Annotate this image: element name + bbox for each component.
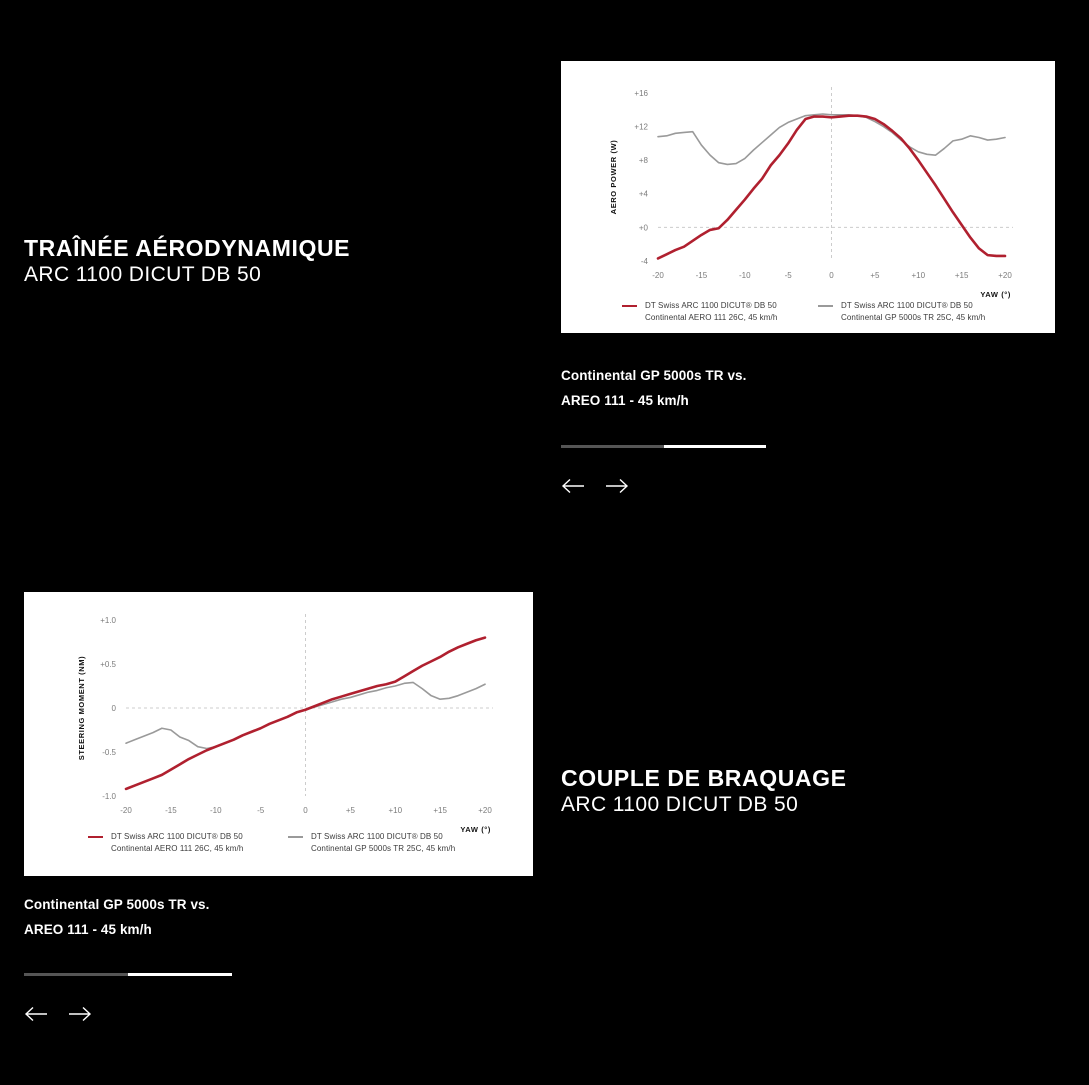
- svg-text:+12: +12: [634, 122, 648, 131]
- svg-text:+4: +4: [639, 190, 649, 199]
- svg-text:+10: +10: [388, 806, 402, 815]
- legend-label-grey-line1: DT Swiss ARC 1100 DICUT® DB 50: [311, 832, 443, 841]
- page-title-aero-drag: TRAÎNÉE AÉRODYNAMIQUE: [24, 234, 350, 262]
- carousel-progress-fill-aero: [664, 445, 767, 448]
- legend-label-red: DT Swiss ARC 1100 DICUT® DB 50 Continent…: [111, 831, 243, 854]
- legend-label-grey: DT Swiss ARC 1100 DICUT® DB 50 Continent…: [841, 300, 985, 323]
- svg-text:-20: -20: [652, 271, 664, 280]
- chart-caption-aero-drag: Continental GP 5000s TR vs. AREO 111 - 4…: [561, 364, 747, 414]
- legend-item-grey: DT Swiss ARC 1100 DICUT® DB 50 Continent…: [818, 300, 985, 323]
- svg-text:+10: +10: [911, 271, 925, 280]
- page-subtitle-steering-torque: ARC 1100 DICUT DB 50: [561, 792, 847, 818]
- legend-line-swatch-red-icon: [88, 836, 103, 838]
- caption-line-1: Continental GP 5000s TR vs.: [561, 364, 747, 389]
- svg-text:+15: +15: [433, 806, 447, 815]
- svg-text:+15: +15: [955, 271, 969, 280]
- chart-legend-steering-moment: DT Swiss ARC 1100 DICUT® DB 50 Continent…: [88, 831, 488, 854]
- caption-line-2: AREO 111 - 45 km/h: [561, 389, 747, 414]
- arrow-right-icon[interactable]: [66, 1003, 92, 1025]
- svg-text:+20: +20: [998, 271, 1012, 280]
- section-heading-aero-drag: TRAÎNÉE AÉRODYNAMIQUE ARC 1100 DICUT DB …: [24, 234, 350, 288]
- legend-label-grey-line2: Continental GP 5000s TR 25C, 45 km/h: [841, 313, 985, 322]
- legend-line-swatch-grey-icon: [818, 305, 833, 307]
- svg-text:+16: +16: [634, 89, 648, 98]
- svg-text:-10: -10: [739, 271, 751, 280]
- svg-text:+0.5: +0.5: [100, 660, 116, 669]
- page-subtitle-aero-drag: ARC 1100 DICUT DB 50: [24, 262, 350, 288]
- carousel-progress-fill-steering: [128, 973, 232, 976]
- arrow-left-icon[interactable]: [24, 1003, 50, 1025]
- caption-line-2: AREO 111 - 45 km/h: [24, 918, 210, 943]
- carousel-nav-aero: [561, 475, 629, 497]
- legend-item-red: DT Swiss ARC 1100 DICUT® DB 50 Continent…: [622, 300, 818, 323]
- chart-legend-aero-power: DT Swiss ARC 1100 DICUT® DB 50 Continent…: [622, 300, 1022, 323]
- legend-label-red-line1: DT Swiss ARC 1100 DICUT® DB 50: [645, 301, 777, 310]
- caption-line-1: Continental GP 5000s TR vs.: [24, 893, 210, 918]
- aero-power-chart: -4+0+4+8+12+16-20-15-10-50+5+10+15+20AER…: [561, 61, 1055, 333]
- svg-text:+5: +5: [870, 271, 880, 280]
- legend-line-swatch-red-icon: [622, 305, 637, 307]
- legend-item-grey: DT Swiss ARC 1100 DICUT® DB 50 Continent…: [288, 831, 455, 854]
- legend-label-red: DT Swiss ARC 1100 DICUT® DB 50 Continent…: [645, 300, 777, 323]
- svg-text:-20: -20: [120, 806, 132, 815]
- legend-label-red-line2: Continental AERO 111 26C, 45 km/h: [111, 844, 243, 853]
- legend-label-red-line2: Continental AERO 111 26C, 45 km/h: [645, 313, 777, 322]
- svg-text:0: 0: [829, 271, 834, 280]
- svg-text:0: 0: [303, 806, 308, 815]
- svg-text:-10: -10: [210, 806, 222, 815]
- svg-text:+20: +20: [478, 806, 492, 815]
- legend-item-red: DT Swiss ARC 1100 DICUT® DB 50 Continent…: [88, 831, 288, 854]
- page-title-steering-torque: COUPLE DE BRAQUAGE: [561, 764, 847, 792]
- svg-text:AERO POWER (W): AERO POWER (W): [609, 140, 618, 215]
- legend-line-swatch-grey-icon: [288, 836, 303, 838]
- arrow-right-icon[interactable]: [603, 475, 629, 497]
- carousel-progress-track-aero[interactable]: [561, 445, 766, 448]
- chart-panel-aero-power: -4+0+4+8+12+16-20-15-10-50+5+10+15+20AER…: [561, 61, 1055, 333]
- svg-text:-5: -5: [785, 271, 793, 280]
- svg-text:-15: -15: [165, 806, 177, 815]
- legend-label-grey: DT Swiss ARC 1100 DICUT® DB 50 Continent…: [311, 831, 455, 854]
- chart-caption-steering-torque: Continental GP 5000s TR vs. AREO 111 - 4…: [24, 893, 210, 943]
- arrow-left-icon[interactable]: [561, 475, 587, 497]
- legend-label-red-line1: DT Swiss ARC 1100 DICUT® DB 50: [111, 832, 243, 841]
- svg-text:YAW (°): YAW (°): [980, 290, 1011, 299]
- carousel-progress-track-steering[interactable]: [24, 973, 232, 976]
- svg-text:+5: +5: [346, 806, 356, 815]
- svg-text:-15: -15: [696, 271, 708, 280]
- svg-text:+0: +0: [639, 223, 649, 232]
- legend-label-grey-line2: Continental GP 5000s TR 25C, 45 km/h: [311, 844, 455, 853]
- svg-text:-4: -4: [641, 257, 649, 266]
- section-heading-steering-torque: COUPLE DE BRAQUAGE ARC 1100 DICUT DB 50: [561, 764, 847, 818]
- legend-label-grey-line1: DT Swiss ARC 1100 DICUT® DB 50: [841, 301, 973, 310]
- svg-text:-0.5: -0.5: [102, 748, 116, 757]
- svg-text:STEERING MOMENT (NM): STEERING MOMENT (NM): [77, 656, 86, 761]
- carousel-nav-steering: [24, 1003, 92, 1025]
- svg-text:+1.0: +1.0: [100, 616, 116, 625]
- svg-text:-1.0: -1.0: [102, 792, 116, 801]
- svg-text:-5: -5: [257, 806, 265, 815]
- svg-text:0: 0: [112, 704, 117, 713]
- svg-text:+8: +8: [639, 156, 649, 165]
